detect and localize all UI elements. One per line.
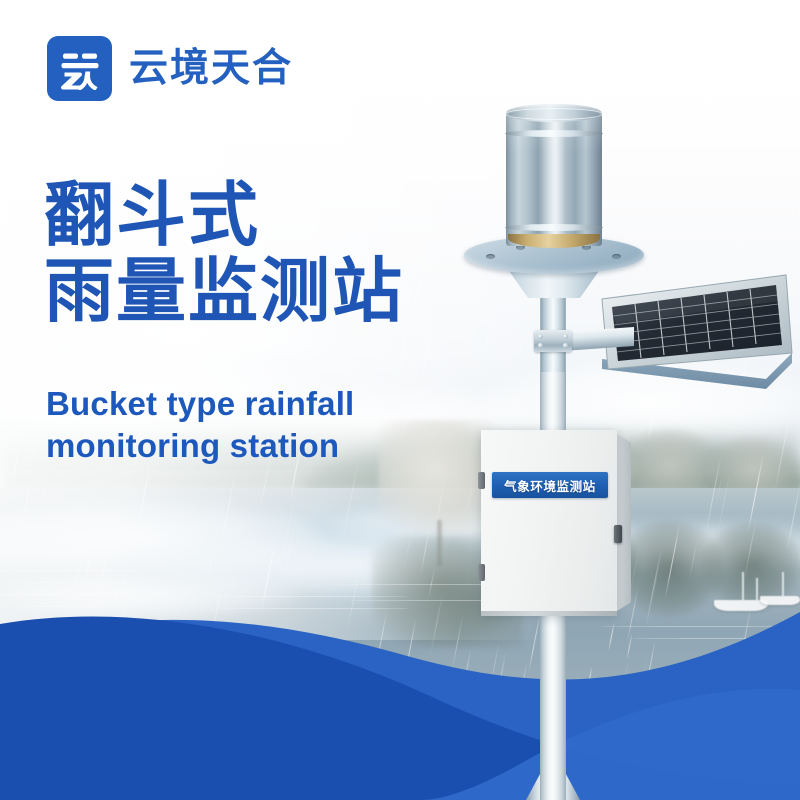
headline: 翻斗式 雨量监测站 [44, 178, 404, 329]
instrument-cabinet: 气象环境监测站 [481, 430, 631, 615]
cabinet-side-panel [617, 434, 631, 611]
product-poster: 气象环境监测站 [0, 0, 800, 800]
subheadline: Bucket type rainfall monitoring station [46, 383, 354, 467]
headline-line-2: 雨量监测站 [44, 254, 404, 330]
cabinet-nameplate: 气象环境监测站 [492, 472, 608, 498]
cabinet-hinge [478, 564, 485, 581]
gauge-lower-band [505, 224, 603, 231]
gauge-upper-band [505, 130, 603, 137]
brand-logo[interactable]: 云境天合 [47, 36, 293, 101]
headline-line-1: 翻斗式 [44, 178, 404, 254]
decorative-wave-band [0, 550, 800, 800]
brand-name: 云境天合 [129, 49, 293, 88]
tipping-bucket-rain-gauge [506, 104, 602, 250]
cabinet-door: 气象环境监测站 [481, 430, 617, 615]
pole-clamp-bracket [534, 330, 572, 352]
cabinet-latch[interactable] [614, 525, 622, 543]
cabinet-hinge [478, 472, 485, 489]
cabinet-bottom-edge [481, 611, 617, 616]
subheadline-line-1: Bucket type rainfall [46, 383, 354, 425]
gauge-rim [505, 108, 603, 120]
subheadline-line-2: monitoring station [46, 425, 354, 467]
cabinet-nameplate-text: 气象环境监测站 [504, 476, 596, 495]
zr-monogram-logo-icon [47, 36, 112, 101]
